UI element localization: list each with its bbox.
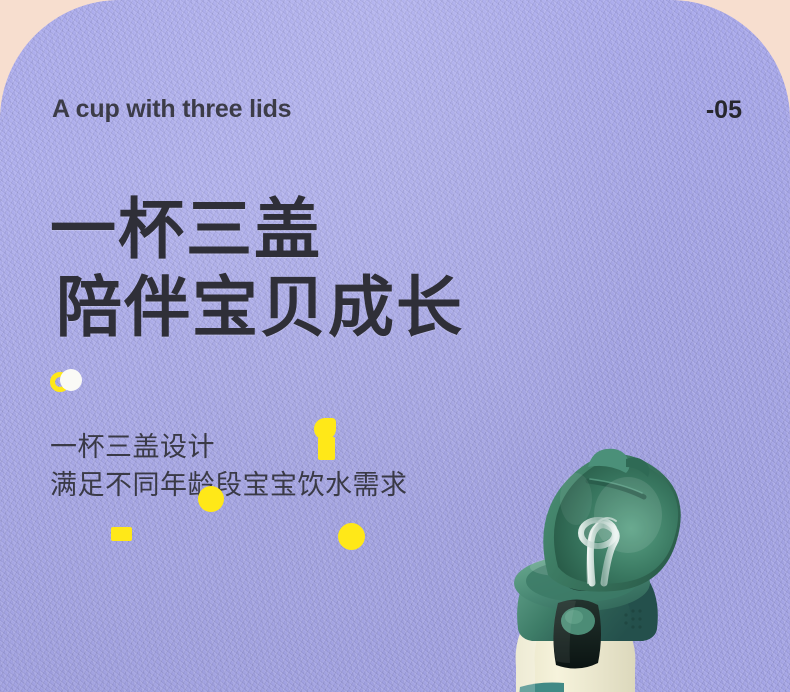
- accent-square-shape-lower: [111, 527, 132, 541]
- page-number: -05: [706, 96, 742, 125]
- subcopy-block: 一杯三盖设计 满足不同年龄段宝宝饮水需求: [50, 428, 408, 505]
- promo-page: A cup with three lids -05 一杯三盖 陪伴宝贝成长 一杯…: [0, 0, 790, 692]
- product-image-sippy-cup: [500, 415, 790, 692]
- decorative-circle: [60, 369, 82, 391]
- headline-line-2: 陪伴宝贝成长: [56, 274, 464, 340]
- accent-dot-shape-right: [338, 523, 365, 550]
- english-heading: A cup with three lids: [52, 95, 291, 124]
- subcopy-line-1: 一杯三盖设计: [50, 428, 408, 466]
- headline-block: 一杯三盖 陪伴宝贝成长: [46, 196, 516, 356]
- accent-square-shape: [318, 437, 335, 460]
- accent-dot-shape-left: [198, 486, 224, 512]
- headline-line-1: 一杯三盖: [50, 196, 322, 262]
- subcopy-line-2: 满足不同年龄段宝宝饮水需求: [50, 466, 408, 504]
